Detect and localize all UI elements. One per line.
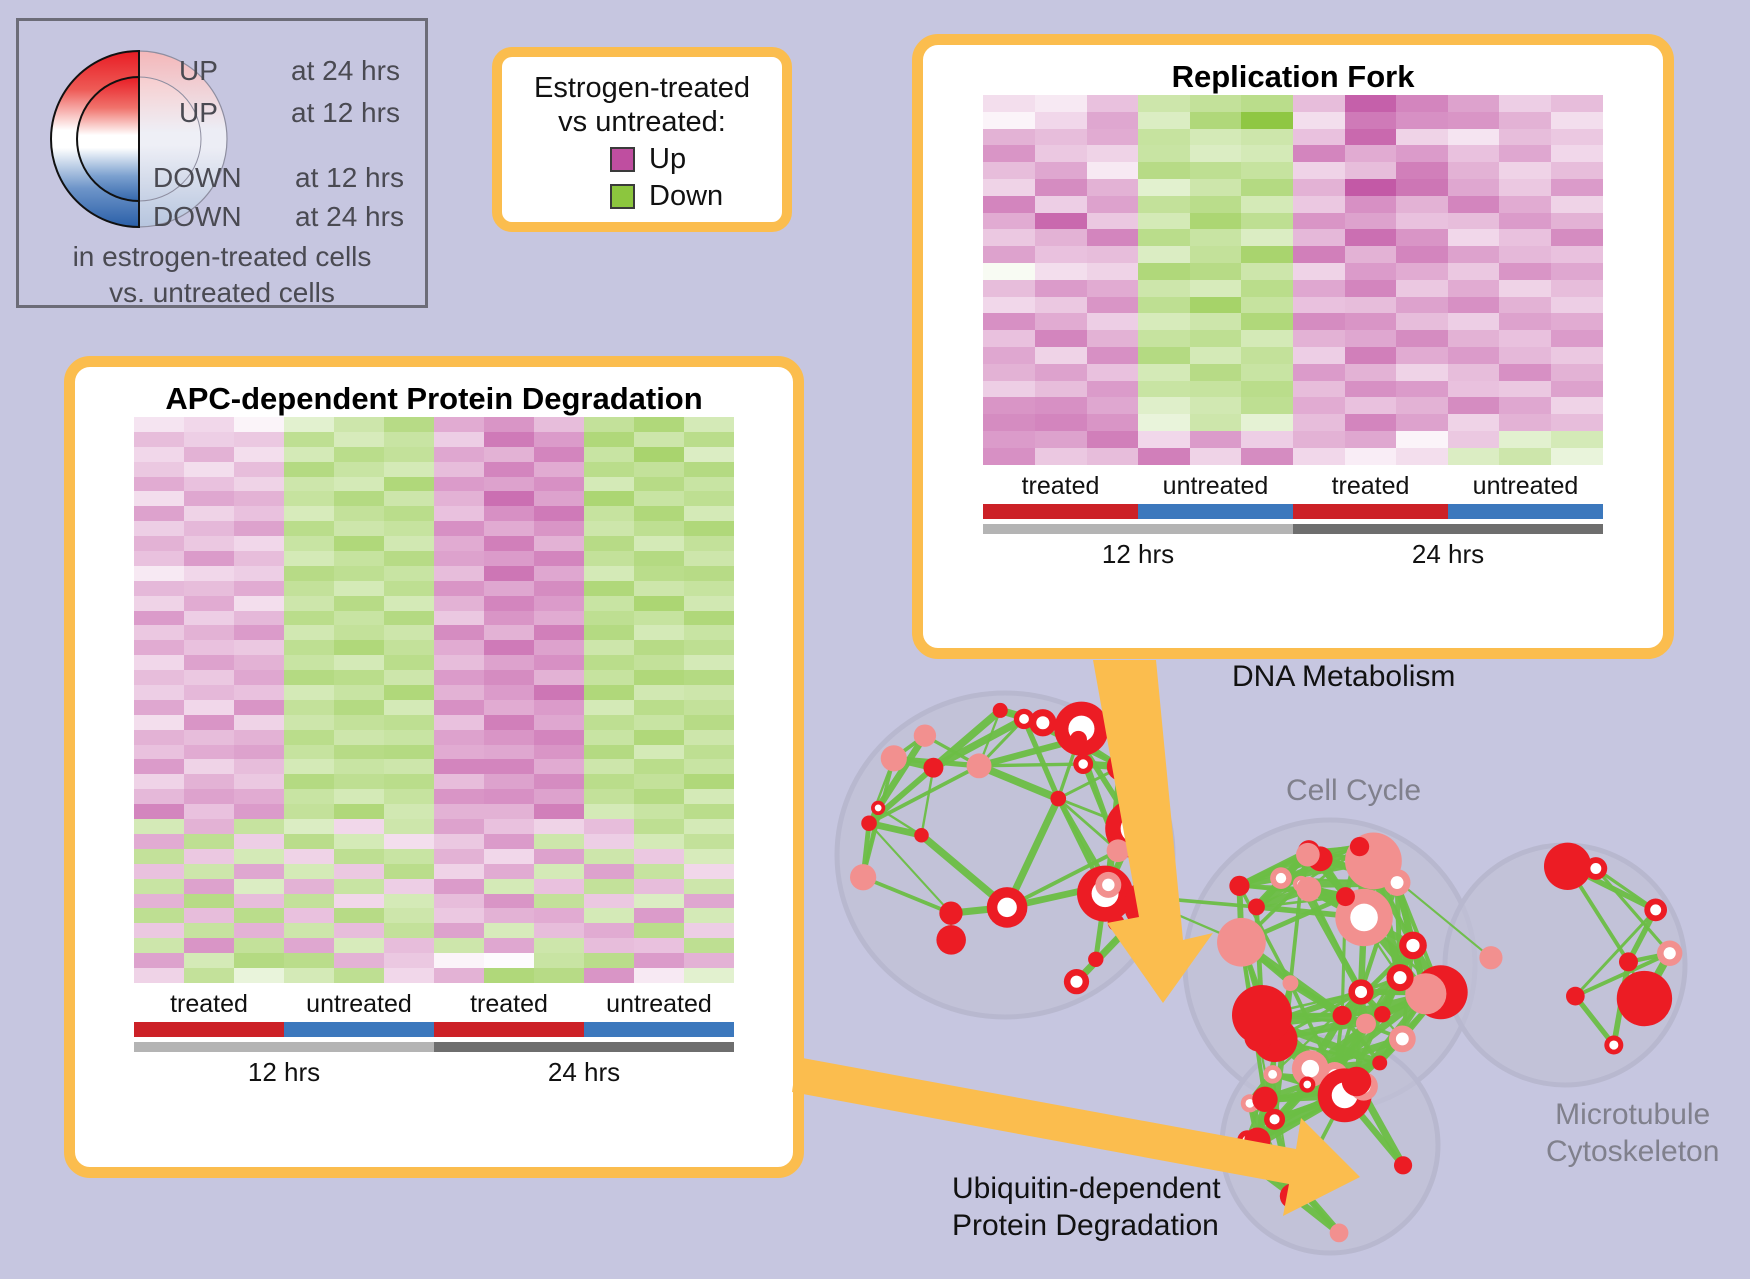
heatmap-cell <box>284 849 334 864</box>
time-labels: 12 hrs 24 hrs <box>134 1057 734 1088</box>
heatmap-cell <box>1138 162 1190 179</box>
heatmap-cell <box>983 112 1035 129</box>
heatmap-cell <box>1396 246 1448 263</box>
network-edge <box>863 808 878 877</box>
network-edge <box>1078 739 1118 850</box>
network-node[interactable] <box>914 828 929 843</box>
network-edge <box>1357 1081 1404 1165</box>
node-outer <box>1350 837 1369 856</box>
heatmap-cell <box>234 864 284 879</box>
node-core <box>1328 1069 1341 1082</box>
node-core <box>1246 1099 1255 1108</box>
network-edge <box>1108 829 1134 885</box>
heatmap-cell <box>1551 263 1603 280</box>
network-edge <box>1335 992 1361 1076</box>
network-node[interactable] <box>1544 843 1591 890</box>
network-node[interactable] <box>1293 876 1309 892</box>
network-node[interactable] <box>1229 876 1249 896</box>
network-node[interactable] <box>1349 1072 1377 1100</box>
legend-title-line-2: vs untreated: <box>506 105 778 139</box>
heatmap-cell <box>684 417 734 432</box>
heatmap-cell <box>1448 213 1500 230</box>
heatmap-cell <box>534 566 584 581</box>
heatmap-cell <box>1241 95 1293 112</box>
heatmap-cell <box>334 804 384 819</box>
network-node[interactable] <box>1244 1127 1270 1153</box>
heatmap-cell <box>1551 129 1603 146</box>
heatmap-cell <box>1035 381 1087 398</box>
heatmap-cell <box>434 879 484 894</box>
heatmap-cell <box>134 611 184 626</box>
network-node[interactable] <box>1108 914 1125 931</box>
heatmap-cell <box>684 774 734 789</box>
network-node[interactable] <box>1107 753 1135 781</box>
network-node[interactable] <box>1262 1014 1280 1032</box>
heatmap-cell <box>334 432 384 447</box>
heatmap-cell <box>584 640 634 655</box>
heatmap-cell <box>634 685 684 700</box>
heatmap-cell <box>634 417 684 432</box>
heatmap-cell <box>534 655 584 670</box>
heatmap-cell <box>1396 280 1448 297</box>
network-node[interactable] <box>871 801 885 815</box>
network-edge <box>1575 953 1669 996</box>
node-core <box>1255 1136 1264 1145</box>
heatmap-cell <box>134 745 184 760</box>
network-node[interactable] <box>1014 709 1034 729</box>
heatmap-cell <box>1087 179 1139 196</box>
network-edge <box>1309 889 1346 896</box>
node-outer <box>993 703 1008 718</box>
network-node[interactable] <box>993 703 1008 718</box>
heatmap-cell <box>584 715 634 730</box>
heatmap-cell <box>1499 129 1551 146</box>
heatmap-cell <box>534 864 584 879</box>
heatmap-cell <box>684 745 734 760</box>
heatmap-cell <box>434 432 484 447</box>
heatmap-cell <box>484 894 534 909</box>
heatmap-cell <box>134 625 184 640</box>
network-edge <box>1108 885 1241 942</box>
network-node[interactable] <box>1414 965 1468 1019</box>
network-node[interactable] <box>1283 975 1299 991</box>
heatmap-cell <box>134 596 184 611</box>
heatmap-cell <box>983 381 1035 398</box>
heatmap-cell <box>184 506 234 521</box>
network-node[interactable] <box>1356 1014 1376 1034</box>
heatmap-cell <box>634 774 684 789</box>
network-node[interactable] <box>1077 866 1133 922</box>
heatmap-cell <box>234 968 284 983</box>
heatmap-cell <box>484 491 534 506</box>
network-node[interactable] <box>1644 899 1667 922</box>
heatmap-cell <box>234 655 284 670</box>
network-edge <box>1413 945 1426 993</box>
heatmap-cell <box>384 849 434 864</box>
network-node[interactable] <box>1264 1109 1285 1130</box>
network-node[interactable] <box>1299 1076 1315 1092</box>
network-edge <box>979 766 1058 799</box>
heatmap-cell <box>584 745 634 760</box>
network-node[interactable] <box>1318 1068 1372 1122</box>
network-node[interactable] <box>1374 1006 1391 1023</box>
heatmap-cell <box>1293 431 1345 448</box>
heatmap-cell <box>1345 448 1397 465</box>
network-edge <box>979 710 1000 765</box>
heatmap-cell <box>1087 313 1139 330</box>
network-node[interactable] <box>1399 932 1427 960</box>
network-node[interactable] <box>1566 987 1585 1006</box>
network-node[interactable] <box>967 753 992 778</box>
network-edge <box>1357 992 1361 1082</box>
heatmap-cell <box>334 625 384 640</box>
network-node[interactable] <box>1387 964 1414 991</box>
network-node[interactable] <box>1270 867 1292 889</box>
network-edge <box>1614 962 1629 1045</box>
node-outer <box>1073 754 1093 774</box>
network-edge <box>1250 1085 1307 1104</box>
network-node[interactable] <box>1604 1036 1623 1055</box>
heatmap-cell <box>234 923 284 938</box>
network-edge <box>1007 851 1118 908</box>
network-node[interactable] <box>1335 889 1393 947</box>
network-edge <box>1310 1014 1382 1068</box>
heatmap-cell <box>1499 347 1551 364</box>
network-edge <box>1309 851 1374 861</box>
network-node[interactable] <box>1250 1131 1269 1150</box>
network-edge <box>1259 1074 1272 1140</box>
heatmap-cell <box>1448 95 1500 112</box>
heatmap-cell <box>1138 397 1190 414</box>
network-edge <box>1275 1040 1335 1076</box>
network-node[interactable] <box>850 864 876 890</box>
network-node[interactable] <box>1372 1055 1387 1070</box>
heatmap-cell <box>1293 129 1345 146</box>
network-node[interactable] <box>1253 1017 1298 1062</box>
network-node[interactable] <box>1064 969 1089 994</box>
heatmap-cell <box>1241 145 1293 162</box>
network-node[interactable] <box>1263 1065 1282 1084</box>
network-node[interactable] <box>1333 1006 1352 1025</box>
heatmap-cell <box>1345 313 1397 330</box>
time-label: 24 hrs <box>434 1057 734 1088</box>
heatmap-cell <box>484 804 534 819</box>
heatmap-cell <box>334 521 384 536</box>
network-edge <box>1342 1015 1380 1062</box>
network-node[interactable] <box>861 815 877 831</box>
time-labels: 12 hrs 24 hrs <box>983 539 1603 570</box>
heatmap-cell <box>1241 112 1293 129</box>
heatmap-cell <box>1345 246 1397 263</box>
heatmap-cell <box>1087 196 1139 213</box>
network-node[interactable] <box>923 758 943 778</box>
heatmap-cell <box>983 347 1035 364</box>
heatmap-cell <box>134 819 184 834</box>
heatmap-cell <box>584 462 634 477</box>
heatmap-cell <box>1448 162 1500 179</box>
heatmap-cell <box>1396 162 1448 179</box>
network-node[interactable] <box>1232 985 1292 1045</box>
network-node[interactable] <box>1124 879 1176 931</box>
heatmap-cell <box>634 938 684 953</box>
heatmap-cell <box>1396 397 1448 414</box>
heatmap-cell <box>484 685 534 700</box>
network-node[interactable] <box>1342 1067 1371 1096</box>
network-edge <box>1241 942 1265 1099</box>
heatmap-cell <box>534 894 584 909</box>
heatmap-cell <box>983 448 1035 465</box>
heatmap-cell <box>384 864 434 879</box>
heatmap-cell <box>1138 263 1190 280</box>
network-node[interactable] <box>1389 1026 1416 1053</box>
legend-row-down: Down <box>610 180 778 213</box>
heatmap-cell <box>1035 280 1087 297</box>
heatmap-cell <box>684 789 734 804</box>
heatmap-cell <box>1345 364 1397 381</box>
heatmap-cell <box>684 625 734 640</box>
heatmap-cell <box>684 730 734 745</box>
network-node[interactable] <box>1617 971 1672 1026</box>
heatmap-cell <box>1035 397 1087 414</box>
network-node[interactable] <box>1244 1024 1272 1052</box>
heatmap-cell <box>1190 313 1242 330</box>
network-edge <box>1058 739 1078 798</box>
heatmap-cell <box>1241 381 1293 398</box>
node-outer <box>1333 1006 1352 1025</box>
network-edge <box>1239 886 1290 983</box>
network-edge <box>1265 1086 1364 1099</box>
node-core <box>1355 986 1367 998</box>
heatmap-cell <box>434 894 484 909</box>
network-edge <box>1262 1015 1335 1076</box>
network-node[interactable] <box>1330 1224 1349 1243</box>
node-outer <box>936 925 966 955</box>
network-node[interactable] <box>1280 1184 1305 1209</box>
network-edge <box>1273 1074 1293 1196</box>
network-edge <box>1058 767 1121 799</box>
heatmap-cell <box>1035 196 1087 213</box>
network-node[interactable] <box>1292 1050 1329 1087</box>
network-node[interactable] <box>1095 872 1121 898</box>
node-outer <box>1095 872 1121 898</box>
node-core <box>1268 1070 1277 1079</box>
heatmap-cell <box>584 521 634 536</box>
network-node[interactable] <box>1248 899 1265 916</box>
heatmap-cell <box>384 685 434 700</box>
network-node[interactable] <box>1350 837 1369 856</box>
network-node[interactable] <box>1107 839 1130 862</box>
heatmap-cell <box>184 581 234 596</box>
network-node[interactable] <box>881 745 907 771</box>
network-edge <box>1239 886 1241 942</box>
cluster-halo <box>837 693 1173 1017</box>
node-outer <box>987 887 1028 928</box>
network-node[interactable] <box>1054 702 1108 756</box>
network-node[interactable] <box>1394 1156 1412 1174</box>
network-node[interactable] <box>1657 941 1682 966</box>
network-node[interactable] <box>1217 918 1266 967</box>
network-edge <box>1273 1074 1364 1086</box>
heatmap-cell <box>484 477 534 492</box>
network-edge <box>1308 855 1364 918</box>
heatmap-cell <box>584 700 634 715</box>
network-node[interactable] <box>1296 843 1320 867</box>
heatmap-cell <box>684 506 734 521</box>
heatmap-cell <box>1241 448 1293 465</box>
network-node[interactable] <box>1479 946 1502 969</box>
heatmap-cell <box>1293 112 1345 129</box>
heatmap-cell <box>484 968 534 983</box>
group-color-bar <box>983 504 1603 519</box>
heatmap-cell <box>684 819 734 834</box>
network-node[interactable] <box>1348 979 1373 1004</box>
node-core <box>1590 863 1601 874</box>
node-outer <box>1479 946 1502 969</box>
heatmap-cell <box>1035 95 1087 112</box>
heatmap-cell <box>134 521 184 536</box>
node-outer <box>1250 1131 1269 1150</box>
network-edge <box>1345 1081 1357 1095</box>
heatmap-cell <box>1448 112 1500 129</box>
heatmap-cell <box>434 462 484 477</box>
network-edge <box>1281 878 1397 882</box>
network-node[interactable] <box>1237 1130 1257 1150</box>
network-edge <box>1380 994 1426 1063</box>
apc-panel: APC-dependent Protein Degradation treate… <box>64 356 804 1178</box>
heatmap-cell <box>1241 330 1293 347</box>
network-edge <box>1342 945 1413 1015</box>
network-edge <box>1309 847 1360 851</box>
heatmap-cell <box>384 506 434 521</box>
heatmap-cell <box>1190 414 1242 431</box>
heatmap-cell <box>284 417 334 432</box>
network-edge <box>1257 1099 1265 1140</box>
heatmap-cell <box>684 938 734 953</box>
heatmap-cell <box>1035 297 1087 314</box>
network-node[interactable] <box>1321 1062 1348 1089</box>
node-outer <box>1298 840 1320 862</box>
network-edge <box>1360 847 1365 918</box>
heatmap-cell <box>1293 414 1345 431</box>
heatmap-cell <box>234 640 284 655</box>
heatmap-cell <box>684 923 734 938</box>
heatmap-cell <box>1293 263 1345 280</box>
heatmap-cell <box>534 938 584 953</box>
heatmap-cell <box>484 834 534 849</box>
network-node[interactable] <box>914 724 936 746</box>
heatmap-cell <box>1293 330 1345 347</box>
network-edge <box>1335 978 1400 1076</box>
network-node[interactable] <box>1405 973 1446 1014</box>
network-edge <box>1007 885 1108 907</box>
heatmap-cell <box>284 745 334 760</box>
heatmap-cell <box>434 670 484 685</box>
heatmap-cell <box>684 640 734 655</box>
heatmap-cell <box>534 685 584 700</box>
heatmap-cell <box>234 819 284 834</box>
network-node[interactable] <box>1584 857 1607 880</box>
heatmap-cell <box>1035 229 1087 246</box>
heatmap-cell <box>634 491 684 506</box>
network-node[interactable] <box>1029 709 1056 736</box>
network-node[interactable] <box>1336 887 1355 906</box>
network-node[interactable] <box>1241 1094 1259 1112</box>
heatmap-cell <box>484 432 534 447</box>
heatmap-cell <box>184 551 234 566</box>
heatmap-cell <box>134 953 184 968</box>
network-node[interactable] <box>1088 952 1103 967</box>
network-edge <box>869 766 979 823</box>
network-edge <box>1007 799 1058 908</box>
heatmap-cell <box>434 745 484 760</box>
network-node[interactable] <box>987 887 1028 928</box>
heatmap-cell <box>1293 95 1345 112</box>
network-edge <box>1250 1086 1364 1103</box>
heatmap-cell <box>1293 297 1345 314</box>
network-node[interactable] <box>1384 869 1411 896</box>
heatmap-cell <box>584 759 634 774</box>
heatmap-cell <box>684 849 734 864</box>
heatmap-cell <box>584 581 634 596</box>
network-node[interactable] <box>1232 1149 1246 1163</box>
heatmap-cell <box>684 894 734 909</box>
network-edge <box>1275 1085 1308 1120</box>
network-node[interactable] <box>1298 840 1320 862</box>
heatmap-cell <box>1448 229 1500 246</box>
network-node[interactable] <box>1252 1087 1277 1112</box>
heatmap-cell <box>434 685 484 700</box>
heatmap-cell <box>1499 280 1551 297</box>
network-node[interactable] <box>1070 731 1087 748</box>
heatmap-cell <box>234 804 284 819</box>
network-node[interactable] <box>1296 877 1321 902</box>
heatmap-cell <box>634 640 684 655</box>
heatmap-cell <box>1035 347 1087 364</box>
network-node[interactable] <box>939 902 962 925</box>
node-outer <box>914 828 929 843</box>
footer-line-1: in estrogen-treated cells <box>19 239 425 275</box>
network-node[interactable] <box>1345 833 1402 890</box>
network-node[interactable] <box>1050 791 1066 807</box>
heatmap-cell <box>1087 431 1139 448</box>
network-edge <box>1239 1140 1259 1156</box>
heatmap-cell <box>284 462 334 477</box>
heatmap-cell <box>584 864 634 879</box>
heatmap-cell <box>983 162 1035 179</box>
network-node[interactable] <box>1308 846 1333 871</box>
network-edge <box>1281 855 1308 878</box>
network-edge <box>1309 889 1361 992</box>
network-edge <box>1239 859 1320 886</box>
heatmap-cell <box>134 566 184 581</box>
heatmap-cell <box>1396 364 1448 381</box>
node-outer <box>1566 987 1585 1006</box>
network-node[interactable] <box>1073 754 1093 774</box>
heatmap-cell <box>1345 381 1397 398</box>
heatmap-cell <box>184 462 234 477</box>
node-core <box>1357 1080 1371 1094</box>
network-node[interactable] <box>1619 952 1638 971</box>
network-node[interactable] <box>936 925 966 955</box>
replication-fork-heatmap <box>983 95 1602 465</box>
heatmap-cell <box>1190 95 1242 112</box>
network-node[interactable] <box>1105 799 1164 858</box>
heatmap-cell <box>434 759 484 774</box>
heatmap-cell <box>634 864 684 879</box>
heatmap-cell <box>234 521 284 536</box>
heatmap-cell <box>1345 179 1397 196</box>
heatmap-cell <box>384 655 434 670</box>
